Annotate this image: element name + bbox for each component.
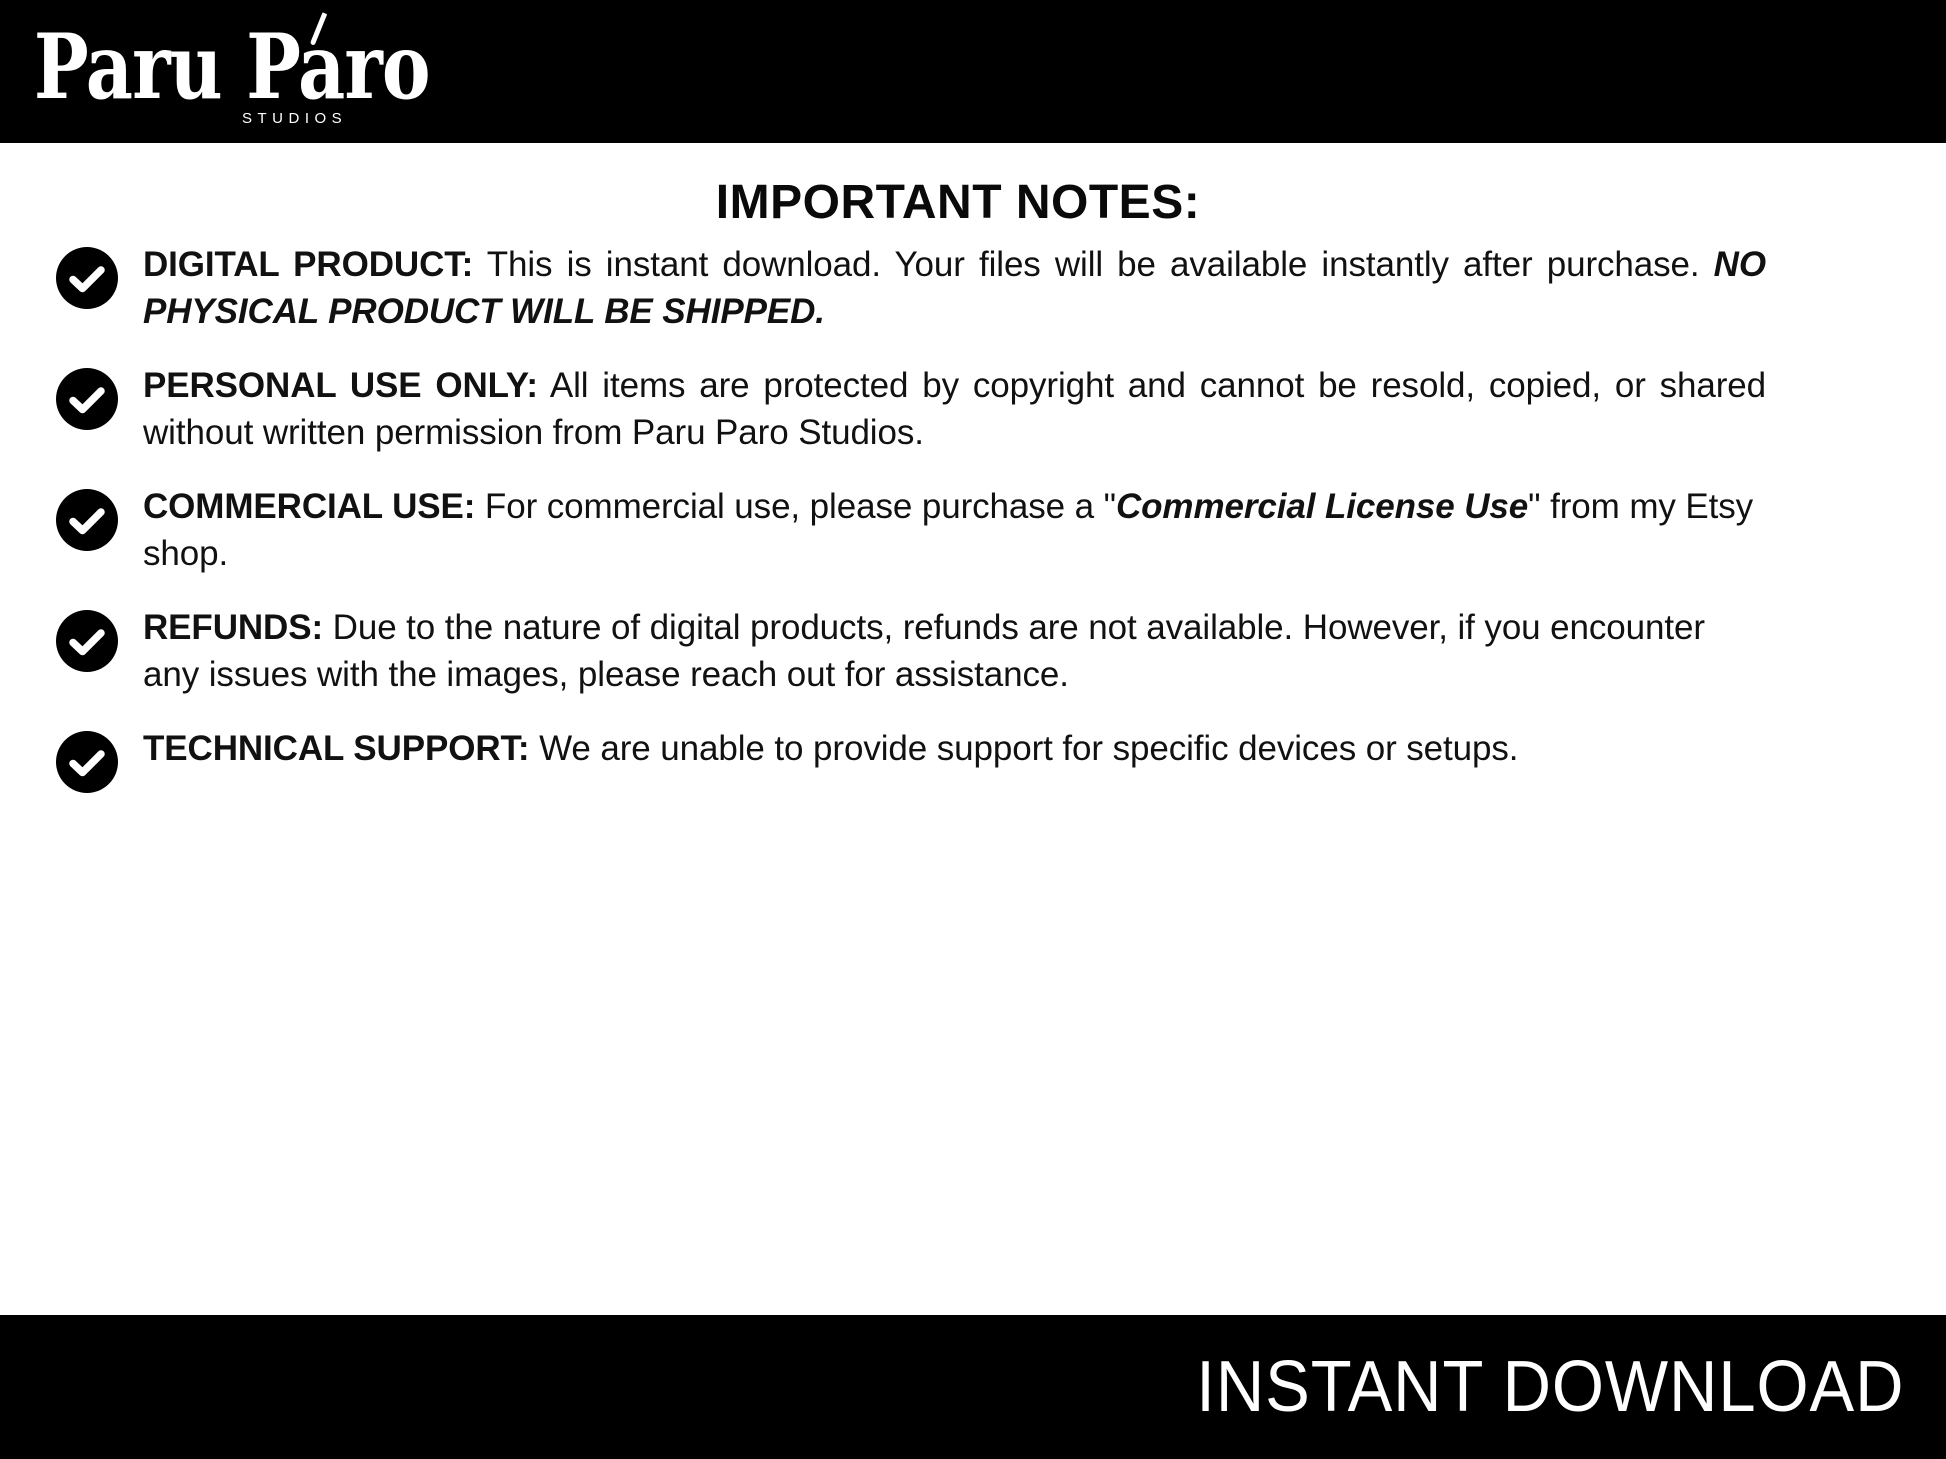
- note-label: REFUNDS:: [143, 608, 323, 647]
- instant-download-label: INSTANT DOWNLOAD: [1196, 1351, 1904, 1423]
- note-item-personal-use-only: PERSONAL USE ONLY: All items are protect…: [50, 363, 1766, 456]
- logo-subtitle: STUDIOS: [242, 110, 347, 127]
- main-content: IMPORTANT NOTES: DIGITAL PRODUCT: This i…: [0, 143, 1946, 1315]
- check-circle-icon: [56, 731, 118, 793]
- note-body: We are unable to provide support for spe…: [529, 729, 1518, 768]
- check-circle-icon: [56, 368, 118, 430]
- note-item-commercial-use: COMMERCIAL USE: For commercial use, plea…: [50, 484, 1766, 577]
- check-circle-icon: [56, 610, 118, 672]
- notes-page: Paru Paro STUDIOS IMPORTANT NOTES: DIGIT…: [0, 0, 1946, 1459]
- note-text: PERSONAL USE ONLY: All items are protect…: [143, 363, 1766, 456]
- note-label: DIGITAL PRODUCT:: [143, 245, 473, 284]
- note-emphasis: Commercial License Use: [1116, 487, 1528, 526]
- note-item-refunds: REFUNDS: Due to the nature of digital pr…: [50, 605, 1766, 698]
- logo-wordmark: Paru Paro: [30, 6, 366, 112]
- note-text: COMMERCIAL USE: For commercial use, plea…: [143, 484, 1766, 577]
- brand-logo: Paru Paro STUDIOS: [30, 6, 380, 136]
- notes-list: DIGITAL PRODUCT: This is instant downloa…: [0, 242, 1946, 773]
- note-label: TECHNICAL SUPPORT:: [143, 729, 529, 768]
- note-label: COMMERCIAL USE:: [143, 487, 475, 526]
- check-circle-icon: [56, 489, 118, 551]
- check-circle-icon: [56, 247, 118, 309]
- note-text: TECHNICAL SUPPORT: We are unable to prov…: [143, 726, 1766, 773]
- note-label: PERSONAL USE ONLY:: [143, 366, 538, 405]
- note-text: DIGITAL PRODUCT: This is instant downloa…: [143, 242, 1766, 335]
- note-body: Due to the nature of digital products, r…: [143, 608, 1705, 694]
- header-bar: Paru Paro STUDIOS: [0, 0, 1946, 143]
- note-item-technical-support: TECHNICAL SUPPORT: We are unable to prov…: [50, 726, 1766, 773]
- note-body: For commercial use, please purchase a ": [475, 487, 1116, 526]
- note-item-digital-product: DIGITAL PRODUCT: This is instant downloa…: [50, 242, 1766, 335]
- footer-bar: INSTANT DOWNLOAD: [0, 1315, 1946, 1459]
- note-body: This is instant download. Your files wil…: [473, 245, 1713, 284]
- page-title: IMPORTANT NOTES:: [0, 143, 1946, 242]
- note-text: REFUNDS: Due to the nature of digital pr…: [143, 605, 1766, 698]
